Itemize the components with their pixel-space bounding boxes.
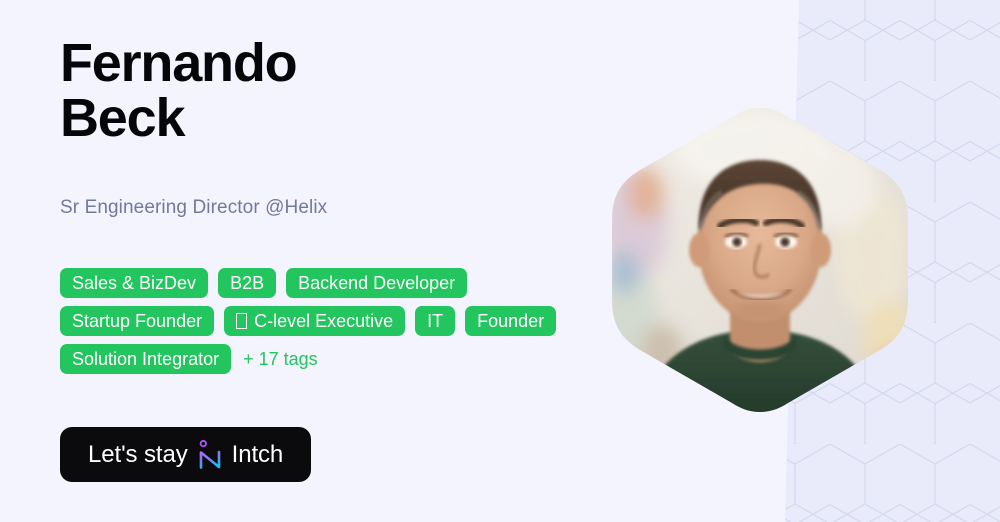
stay-intch-button[interactable]: Let's stay Intch (60, 427, 311, 482)
tag-label: Startup Founder (72, 312, 202, 330)
tag-item[interactable]: Sales & BizDev (60, 268, 208, 298)
tag-list: Sales & BizDev B2B Backend Developer Sta… (60, 268, 560, 374)
missing-glyph-icon (236, 313, 247, 329)
more-tags-link[interactable]: + 17 tags (241, 344, 318, 374)
tag-label: IT (427, 312, 443, 330)
tag-label: Backend Developer (298, 274, 455, 292)
tag-label: C-level Executive (254, 312, 393, 330)
tag-item[interactable]: Solution Integrator (60, 344, 231, 374)
tag-item[interactable]: B2B (218, 268, 276, 298)
portrait-photo (604, 104, 916, 416)
tag-label: Founder (477, 312, 544, 330)
tag-item[interactable]: IT (415, 306, 455, 336)
cta-prefix-label: Let's stay (88, 441, 188, 469)
tag-label: B2B (230, 274, 264, 292)
tag-item[interactable]: Startup Founder (60, 306, 214, 336)
page-title: Fernando Beck (60, 36, 296, 146)
cta-brand-label: Intch (232, 441, 284, 469)
tag-label: Solution Integrator (72, 350, 219, 368)
avatar (604, 104, 916, 416)
headline: Sr Engineering Director @Helix (60, 197, 327, 219)
intch-logo-icon (197, 440, 223, 470)
profile-card: Fernando Beck Sr Engineering Director @H… (0, 0, 1000, 522)
profile-content: Fernando Beck Sr Engineering Director @H… (60, 0, 600, 522)
tag-label: Sales & BizDev (72, 274, 196, 292)
tag-item[interactable]: Backend Developer (286, 268, 467, 298)
tag-item[interactable]: C-level Executive (224, 306, 405, 336)
tag-item[interactable]: Founder (465, 306, 556, 336)
